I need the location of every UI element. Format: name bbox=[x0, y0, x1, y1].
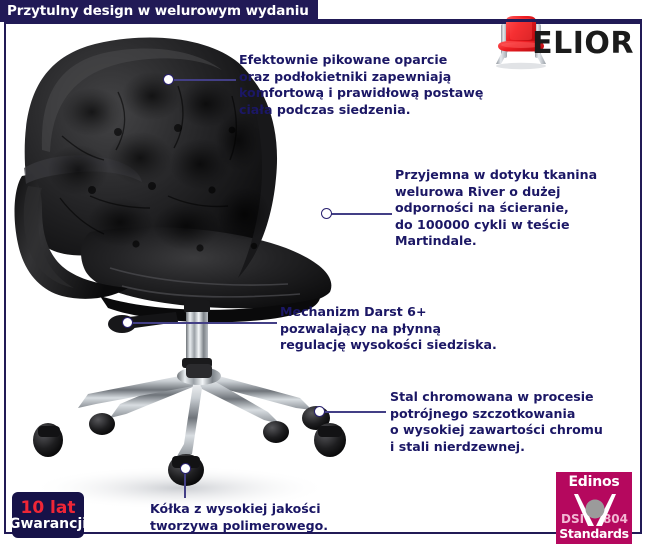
callout-fabric-line-4: do 100000 cykli w teście bbox=[395, 217, 597, 234]
callout-backrest-line-3: komfortową i prawidłową postawę bbox=[239, 85, 483, 102]
leader-line-fabric bbox=[331, 213, 392, 215]
leader-line-mechanism bbox=[133, 322, 277, 324]
callout-mechanism-line-2: pozwalający na płynną bbox=[280, 321, 497, 338]
callout-dot-backrest[interactable] bbox=[163, 74, 174, 85]
callout-mechanism-line-3: regulację wysokości siedziska. bbox=[280, 337, 497, 354]
callout-fabric-line-1: Przyjemna w dotyku tkanina bbox=[395, 167, 597, 184]
edinos-v-icon bbox=[572, 492, 618, 532]
callout-casters-line-1: Kółka z wysokiej jakości bbox=[150, 501, 328, 518]
callout-backrest-line-2: oraz podłokietniki zapewniają bbox=[239, 69, 483, 86]
leader-line-casters bbox=[184, 474, 186, 498]
banner-rule bbox=[318, 19, 642, 22]
callout-mechanism-line-1: Mechanizm Darst 6+ bbox=[280, 304, 497, 321]
header-banner: Przytulny design w welurowym wydaniu bbox=[0, 0, 318, 22]
callout-dot-chrome[interactable] bbox=[314, 406, 325, 417]
leader-line-backrest bbox=[174, 79, 236, 81]
brand-logo: ELIOR bbox=[486, 14, 638, 70]
callout-mechanism: Mechanizm Darst 6+ pozwalający na płynną… bbox=[280, 304, 497, 354]
callout-chrome-line-1: Stal chromowana w procesie bbox=[390, 389, 603, 406]
leader-line-chrome bbox=[324, 411, 386, 413]
callout-fabric-line-5: Martindale. bbox=[395, 233, 597, 250]
callout-dot-mechanism[interactable] bbox=[122, 317, 133, 328]
callout-chrome-line-2: potrójnego szczotkowania bbox=[390, 406, 603, 423]
callout-chrome-line-4: i stali nierdzewnej. bbox=[390, 439, 603, 456]
certification-badge: Edinos DSI 804 Standards bbox=[556, 472, 632, 544]
callout-dot-casters[interactable] bbox=[180, 463, 191, 474]
callout-chrome-line-3: o wysokiej zawartości chromu bbox=[390, 422, 603, 439]
infographic-canvas: Przytulny design w welurowym wydaniu bbox=[0, 0, 650, 560]
callout-backrest-line-4: ciała podczas siedzenia. bbox=[239, 102, 483, 119]
warranty-label: Gwarancji bbox=[9, 517, 87, 532]
callout-casters-line-2: tworzywa polimerowego. bbox=[150, 518, 328, 535]
certification-name: Edinos bbox=[556, 474, 632, 490]
callout-fabric: Przyjemna w dotyku tkanina welurowa Rive… bbox=[395, 167, 597, 250]
callout-fabric-line-2: welurowa River o dużej bbox=[395, 184, 597, 201]
callout-backrest: Efektownie pikowane oparcie oraz podłoki… bbox=[239, 52, 483, 118]
warranty-badge: 10 lat Gwarancji bbox=[12, 492, 84, 538]
callout-backrest-line-1: Efektownie pikowane oparcie bbox=[239, 52, 483, 69]
brand-name: ELIOR bbox=[532, 26, 634, 61]
callout-casters: Kółka z wysokiej jakości tworzywa polime… bbox=[150, 501, 328, 534]
callout-fabric-line-3: odporności na ścieranie, bbox=[395, 200, 597, 217]
callout-chrome-steel: Stal chromowana w procesie potrójnego sz… bbox=[390, 389, 603, 455]
warranty-years: 10 lat bbox=[20, 499, 75, 517]
callout-dot-fabric[interactable] bbox=[321, 208, 332, 219]
banner-title: Przytulny design w welurowym wydaniu bbox=[7, 3, 309, 19]
